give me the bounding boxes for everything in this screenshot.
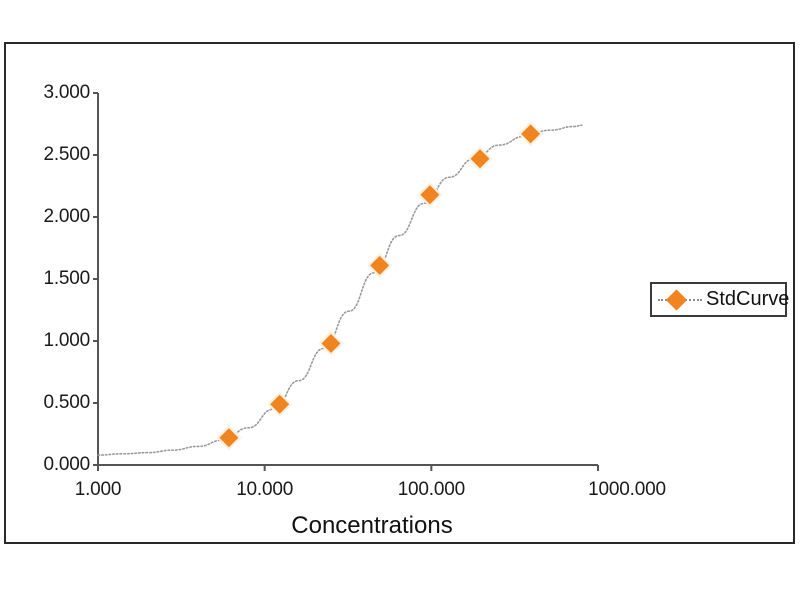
y-axis-tick-label: 2.000 [18,206,90,228]
diamond-marker-icon [666,289,687,310]
legend-label-stdcurve: StdCurve [706,288,789,311]
y-axis-tick-label: 0.000 [18,454,90,476]
chart-container: 0.0000.5001.0001.5002.0002.5003.000 1.00… [0,0,800,600]
x-axis-tick-label: 1000.000 [588,479,666,501]
x-axis-tick-label: 1.000 [75,479,122,501]
x-axis-title: Concentrations [291,512,452,540]
legend-swatch [658,289,702,311]
x-axis-tick-label: 100.000 [398,479,465,501]
y-axis-tick-label: 3.000 [18,82,90,104]
y-axis-tick-label: 1.500 [18,268,90,290]
x-axis-tick-label: 10.000 [236,479,293,501]
y-axis-tick-label: 2.500 [18,144,90,166]
y-axis-tick-label: 1.000 [18,330,90,352]
chart-legend: StdCurve [650,282,787,317]
y-axis-tick-label: 0.500 [18,392,90,414]
